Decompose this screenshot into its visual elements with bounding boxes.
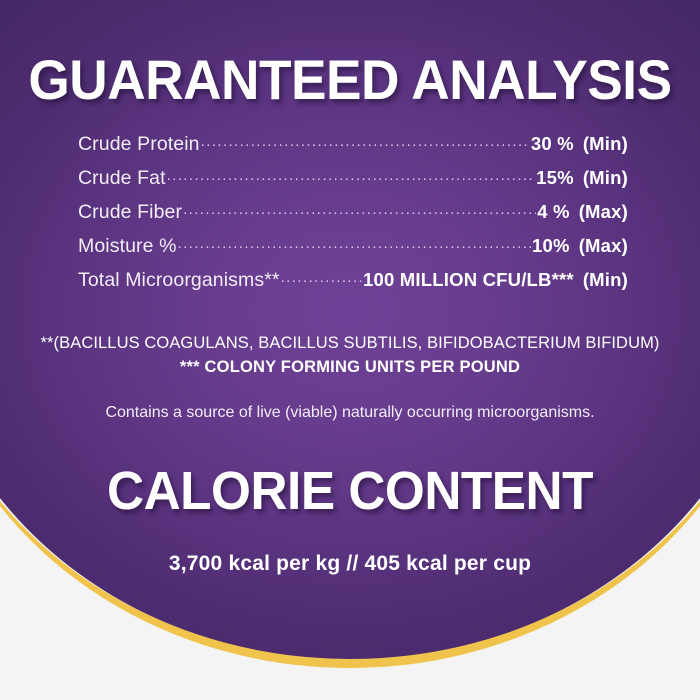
footnote-bacillus-strains: **(BACILLUS COAGULANS, BACILLUS SUBTILIS… [0, 334, 700, 353]
row-value: 15% [536, 167, 574, 189]
calorie-content-heading: CALORIE CONTENT [18, 462, 683, 520]
row-value: 4 % [537, 201, 569, 223]
guaranteed-analysis-panel: GUARANTEED ANALYSIS Crude Protein 30 % (… [0, 0, 700, 700]
row-label: Moisture % [78, 235, 177, 258]
row-value: 100 MILLION CFU/LB*** [363, 269, 574, 291]
live-microorganisms-disclaimer: Contains a source of live (viable) natur… [0, 404, 700, 422]
row-label: Crude Protein [78, 133, 200, 156]
table-row: Crude Fiber 4 % (Max) [78, 199, 628, 233]
dot-leader [183, 199, 536, 218]
row-value: 10% [532, 235, 570, 257]
row-qualifier: (Min) [583, 133, 628, 155]
table-row: Moisture % 10% (Max) [78, 233, 628, 267]
dot-leader [167, 165, 536, 184]
row-label: Crude Fat [78, 167, 166, 190]
calorie-statement: 3,700 kcal per kg // 405 kcal per cup [0, 552, 700, 576]
row-qualifier: (Min) [583, 269, 628, 291]
dot-leader [281, 267, 362, 286]
row-qualifier: (Min) [583, 167, 628, 189]
table-row: Total Microorganisms** 100 MILLION CFU/L… [78, 267, 628, 301]
row-label: Crude Fiber [78, 201, 182, 224]
row-label: Total Microorganisms** [78, 269, 280, 292]
row-value: 30 % [531, 133, 574, 155]
row-qualifier: (Max) [579, 235, 628, 257]
dot-leader [201, 131, 530, 150]
table-row: Crude Protein 30 % (Min) [78, 131, 628, 165]
table-row: Crude Fat 15% (Min) [78, 165, 628, 199]
guaranteed-analysis-heading: GUARANTEED ANALYSIS [18, 50, 683, 110]
row-qualifier: (Max) [579, 201, 628, 223]
panel-content: GUARANTEED ANALYSIS Crude Protein 30 % (… [0, 0, 700, 700]
analysis-rows-list: Crude Protein 30 % (Min) Crude Fat 15% (… [78, 131, 628, 301]
footnote-cfu-definition: *** COLONY FORMING UNITS PER POUND [0, 358, 700, 377]
dot-leader [178, 233, 532, 252]
